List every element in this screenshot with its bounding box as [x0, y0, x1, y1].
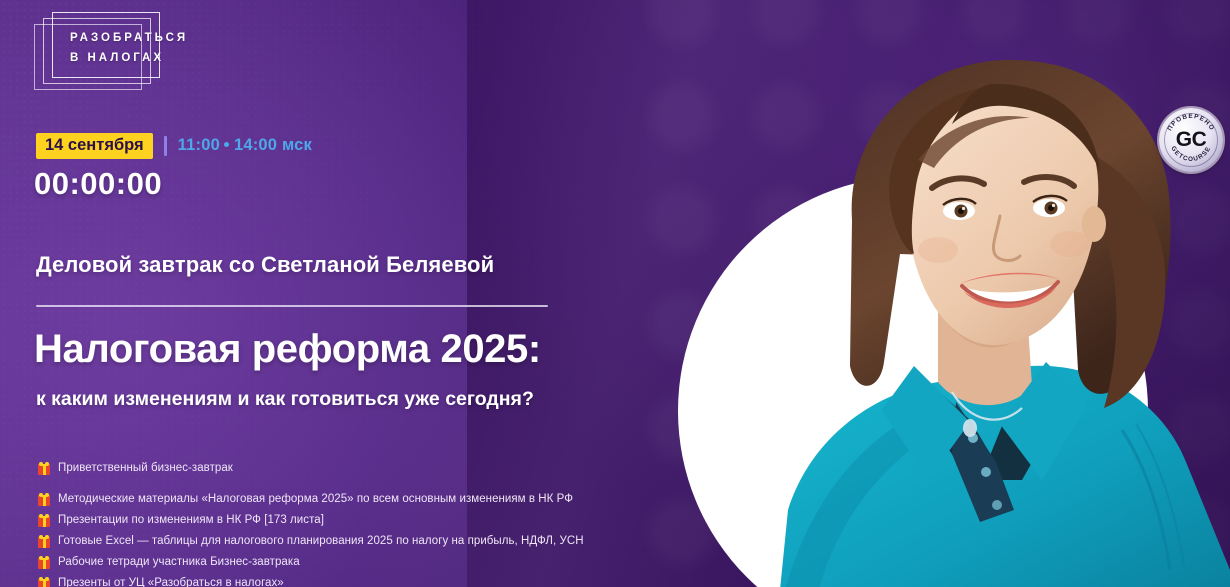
bonus-list-item-label: Методические материалы «Налоговая реформ…: [58, 492, 573, 507]
presenter-line: Деловой завтрак со Светланой Беляевой: [36, 252, 494, 278]
logo-line-1: РАЗОБРАТЬСЯ: [70, 28, 238, 48]
bonus-list-item-label: Готовые Excel — таблицы для налогового п…: [58, 534, 584, 549]
schedule-separator: [164, 136, 167, 156]
badge-initials: GC: [1176, 128, 1207, 152]
schedule-row: 14 сентября 11:0014:00 мск: [36, 133, 312, 159]
event-subheadline: к каким изменениям и как готовиться уже …: [36, 388, 534, 411]
time-start: 11:00: [178, 136, 220, 154]
gift-icon: [38, 577, 50, 587]
bonus-list: Приветственный бизнес-завтракМетодически…: [38, 461, 678, 587]
bonus-list-item-label: Приветственный бизнес-завтрак: [58, 461, 233, 476]
gift-icon: [38, 556, 50, 569]
bonus-list-item: Презентации по изменениям в НК РФ [173 л…: [38, 513, 678, 530]
gift-icon: [38, 514, 50, 527]
getcourse-verified-badge[interactable]: ПРОВЕРЕНО GETCOURSE GC: [1159, 108, 1223, 172]
time-end: 14:00: [234, 136, 277, 154]
presenter-portrait-area: [630, 0, 1230, 587]
presenter-photo: [670, 10, 1230, 587]
bonus-list-item: Приветственный бизнес-завтрак: [38, 461, 678, 478]
time-zone: мск: [282, 136, 312, 154]
countdown-timer: 00:00:00: [34, 167, 162, 201]
webinar-landing-banner: ПРОВЕРЕНО GETCOURSE GC РАЗОБРАТЬСЯ В НАЛ…: [0, 0, 1230, 587]
gift-icon: [38, 535, 50, 548]
logo-line-2: В НАЛОГАХ: [70, 48, 238, 68]
bonus-list-item: Рабочие тетради участника Бизнес-завтрак…: [38, 555, 678, 572]
bonus-list-item: Презенты от УЦ «Разобраться в налогах»: [38, 576, 678, 587]
bonus-list-item-label: Рабочие тетради участника Бизнес-завтрак…: [58, 555, 300, 570]
gift-icon: [38, 462, 50, 475]
brand-logo[interactable]: РАЗОБРАТЬСЯ В НАЛОГАХ: [34, 12, 234, 90]
bonus-list-item-label: Презенты от УЦ «Разобраться в налогах»: [58, 576, 284, 587]
logo-text-block: РАЗОБРАТЬСЯ В НАЛОГАХ: [70, 28, 238, 68]
time-dot-icon: [224, 142, 229, 147]
event-date-badge: 14 сентября: [36, 133, 153, 159]
gift-icon: [38, 493, 50, 506]
bonus-list-item-label: Презентации по изменениям в НК РФ [173 л…: [58, 513, 324, 528]
banner-content: РАЗОБРАТЬСЯ В НАЛОГАХ 14 сентября 11:001…: [0, 0, 690, 587]
section-divider: [36, 305, 548, 307]
bonus-list-item: Методические материалы «Налоговая реформ…: [38, 492, 678, 509]
event-time-text: 11:0014:00 мск: [178, 136, 312, 155]
bonus-list-item: Готовые Excel — таблицы для налогового п…: [38, 534, 678, 551]
event-headline: Налоговая реформа 2025:: [34, 327, 541, 372]
